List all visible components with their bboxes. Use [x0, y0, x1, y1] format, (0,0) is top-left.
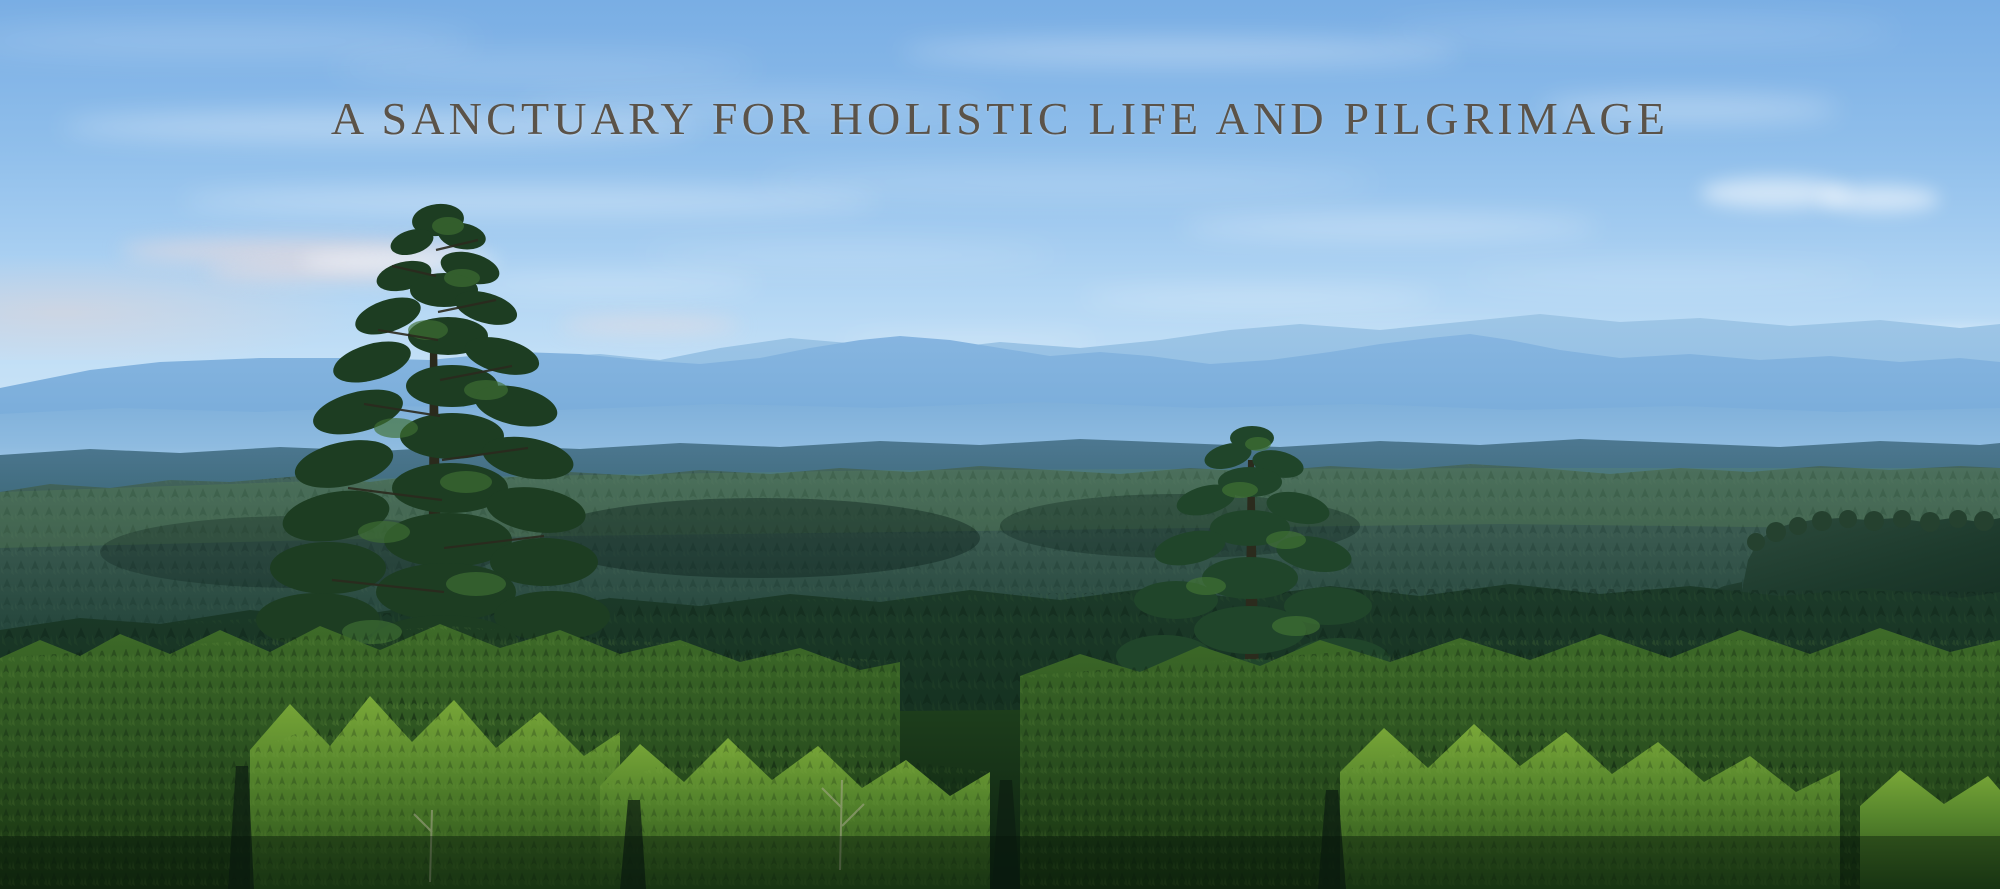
- forested-butte-right: [0, 400, 2000, 700]
- shadowed-valley-canopy: [0, 560, 2000, 889]
- foreground-conifer-canopy: [0, 600, 2000, 889]
- forest-plateau-mid: [0, 452, 2000, 642]
- distant-forest-rim: [0, 425, 2000, 505]
- bare-snag-tree: [0, 520, 2000, 889]
- sky-background: [0, 0, 2000, 420]
- hero-banner: A SANCTUARY FOR HOLISTIC LIFE AND PILGRI…: [0, 0, 2000, 889]
- pine-tree-foreground-right: [0, 420, 2000, 889]
